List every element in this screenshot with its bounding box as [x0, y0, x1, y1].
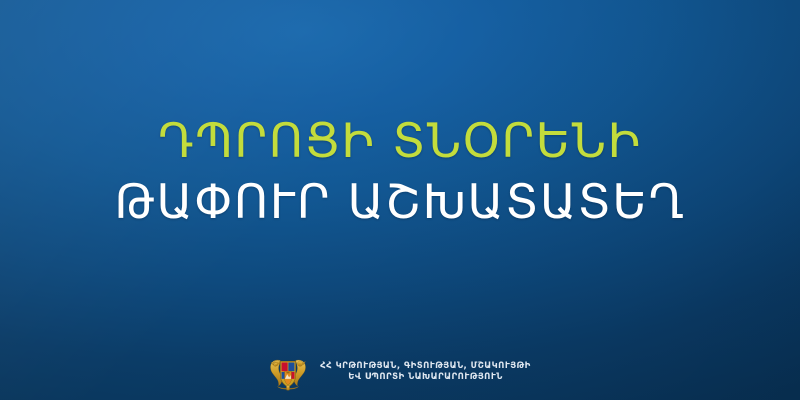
headline-line-primary: ԴՊՐՈՑԻ ՏՆՕՐԵՆԻ — [0, 118, 800, 165]
ministry-footer: ՀՀ ԿՐԹՈՒԹՅԱՆ, ԳԻՏՈՒԹՅԱՆ, ՄՇԱԿՈՒՅԹԻ ԵՎ ՍՊ… — [0, 352, 800, 392]
announcement-banner: ԴՊՐՈՑԻ ՏՆՕՐԵՆԻ ԹԱՓՈՒՐ ԱՇԽԱՏԱՏԵՂ — [0, 0, 800, 400]
ministry-name-line-1: ՀՀ ԿՐԹՈՒԹՅԱՆ, ԳԻՏՈՒԹՅԱՆ, ՄՇԱԿՈՒՅԹԻ — [320, 361, 531, 372]
ministry-name: ՀՀ ԿՐԹՈՒԹՅԱՆ, ԳԻՏՈՒԹՅԱՆ, ՄՇԱԿՈՒՅԹԻ ԵՎ ՍՊ… — [320, 361, 531, 383]
ministry-name-line-2: ԵՎ ՍՊՈՐՏԻ ՆԱԽԱՐԱՐՈՒԹՅՈՒՆ — [348, 372, 503, 383]
headline-line-secondary: ԹԱՓՈՒՐ ԱՇԽԱՏԱՏԵՂ — [0, 179, 800, 226]
headline-block: ԴՊՐՈՑԻ ՏՆՕՐԵՆԻ ԹԱՓՈՒՐ ԱՇԽԱՏԱՏԵՂ — [0, 118, 800, 226]
armenia-coat-of-arms-icon — [269, 352, 307, 392]
